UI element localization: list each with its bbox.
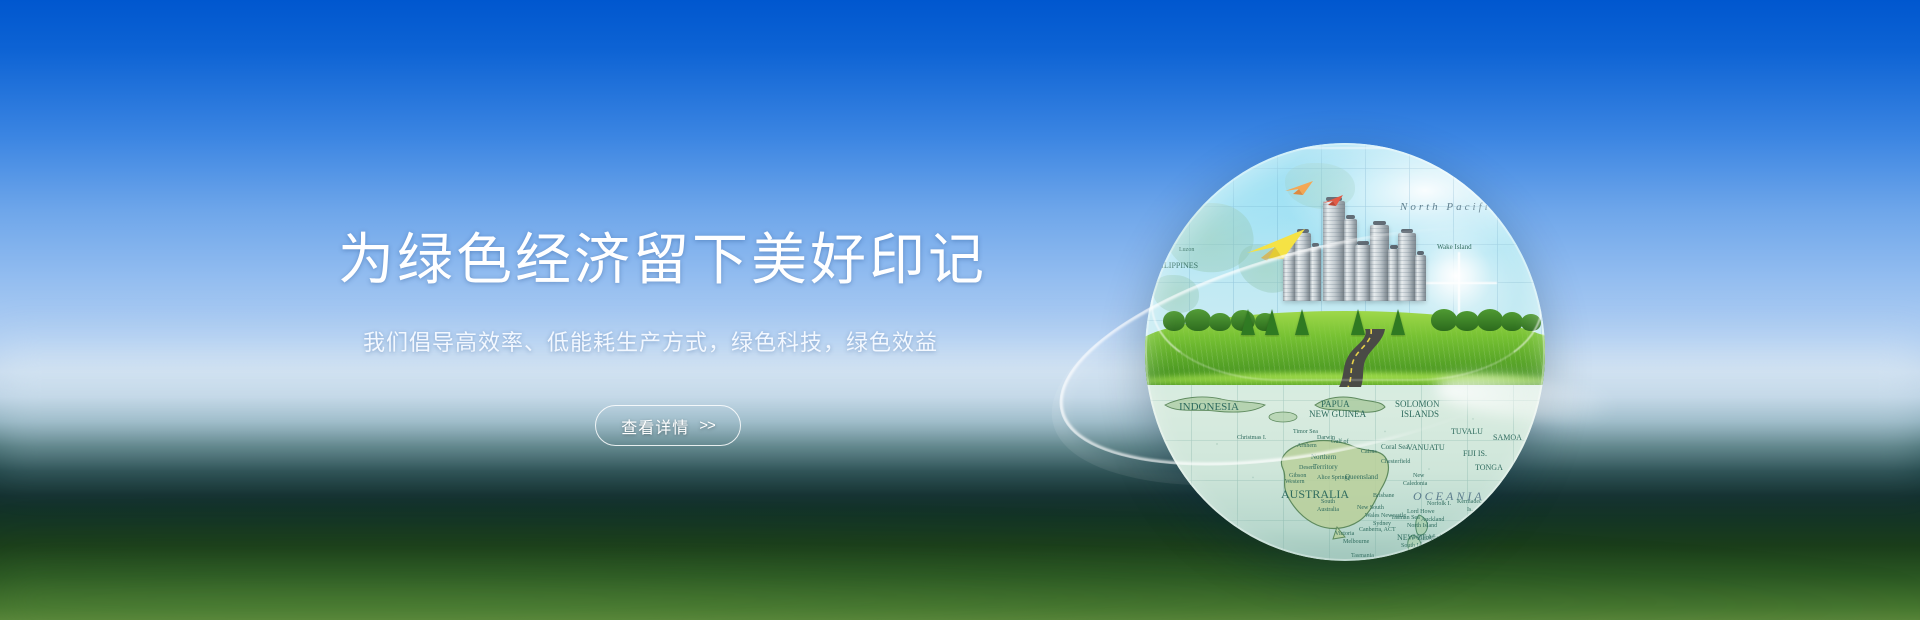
new-zealand-landmass — [1403, 511, 1447, 557]
view-details-button[interactable]: 查看详情 >> — [595, 405, 741, 446]
skyscraper — [1355, 245, 1371, 301]
tree — [1431, 309, 1457, 331]
tree — [1477, 309, 1503, 331]
hero-banner: INDONESIAPAPUANEW GUINEASOLOMONISLANDSTU… — [0, 0, 1920, 620]
rooftop-cap — [1390, 245, 1398, 249]
rooftop-cap — [1357, 241, 1368, 245]
conifer-tree — [1351, 309, 1365, 335]
tree — [1501, 312, 1523, 331]
tree — [1521, 314, 1541, 331]
rooftop-cap — [1417, 251, 1425, 255]
rooftop-cap — [1373, 221, 1386, 225]
hero-copy: 为绿色经济留下美好印记 我们倡导高效率、低能耗生产方式，绿色科技，绿色效益 查看… — [0, 0, 1330, 620]
skyscraper — [1398, 233, 1416, 301]
tree — [1455, 311, 1479, 331]
rooftop-cap — [1346, 215, 1355, 219]
chevron-right-icon: >> — [699, 417, 715, 434]
skyscraper — [1370, 225, 1389, 301]
page-subtitle: 我们倡导高效率、低能耗生产方式，绿色科技，绿色效益 — [363, 326, 938, 360]
conifer-tree — [1391, 309, 1405, 335]
view-details-label: 查看详情 — [621, 414, 689, 438]
skyscraper — [1415, 255, 1426, 301]
rooftop-cap — [1401, 229, 1414, 233]
page-title: 为绿色经济留下美好印记 — [338, 228, 987, 292]
